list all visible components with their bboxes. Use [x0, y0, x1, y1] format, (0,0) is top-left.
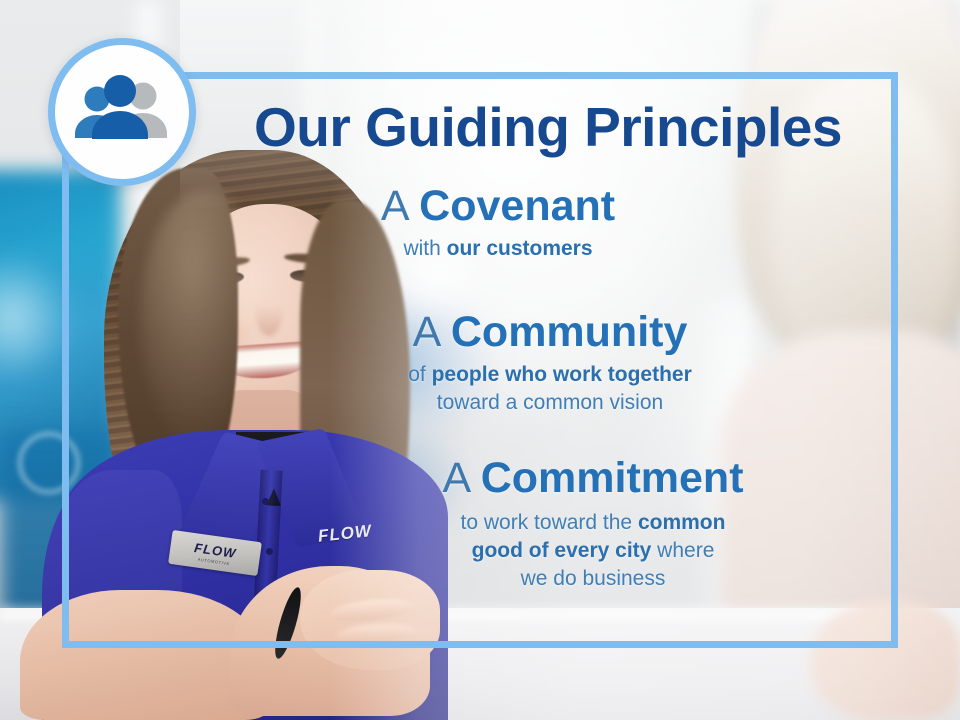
shirt-button-top	[262, 498, 269, 505]
shirt-brand-text: FLOW	[317, 521, 373, 547]
blurred-car-highlight	[0, 250, 90, 400]
customer-hand	[810, 600, 960, 720]
people-group-badge	[48, 38, 196, 186]
shirt-button-bottom	[266, 548, 273, 555]
blurred-brand-emblem	[18, 432, 80, 494]
poster-canvas: FLOW AUTOMOTIVE FLOW Our	[0, 0, 960, 720]
employee-hair-sheen	[140, 190, 270, 450]
people-group-icon	[70, 74, 174, 150]
